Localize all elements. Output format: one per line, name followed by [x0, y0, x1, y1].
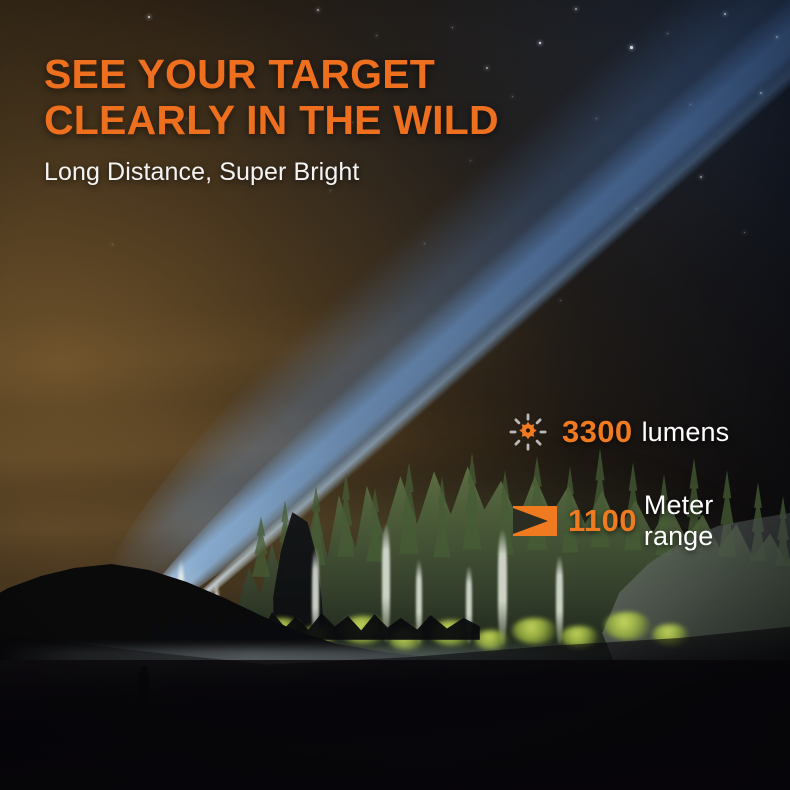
headline: SEE YOUR TARGETCLEARLY IN THE WILD	[44, 52, 499, 144]
person-body	[138, 672, 149, 697]
spec-lumens: 3300 lumens	[508, 412, 729, 452]
headline-line-2: CLEARLY IN THE WILD	[44, 98, 499, 144]
spec-lumens-value: 3300	[562, 414, 633, 450]
spec-lumens-unit: lumens	[642, 417, 730, 448]
spec-range-value: 1100	[568, 503, 637, 539]
headline-line-1: SEE YOUR TARGET	[44, 52, 499, 98]
lit-shrub	[604, 612, 650, 640]
brightness-sun-icon	[508, 412, 548, 452]
lit-shrub	[512, 618, 556, 644]
product-hero-banner: SEE YOUR TARGETCLEARLY IN THE WILD Long …	[0, 0, 790, 790]
person-leg-right	[144, 695, 148, 714]
person-silhouette	[136, 666, 151, 714]
spec-range: 1100 Meter range	[512, 490, 790, 552]
spec-range-unit: Meter range	[644, 490, 790, 552]
person-leg-left	[139, 695, 143, 714]
subtitle: Long Distance, Super Bright	[44, 158, 359, 187]
beam-range-icon	[512, 502, 558, 540]
